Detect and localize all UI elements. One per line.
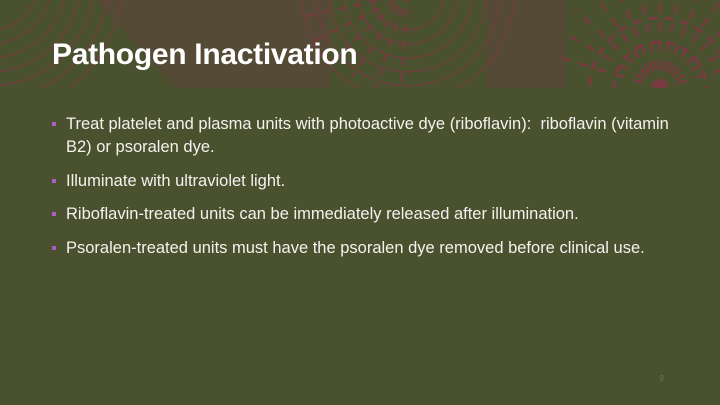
slide: Pathogen Inactivation Treat platelet and… [0,0,720,405]
list-item-text: Riboflavin-treated units can be immediat… [66,203,670,226]
list-item-text: Illuminate with ultraviolet light. [66,170,670,193]
bullet-marker-icon [52,212,56,216]
bullet-marker-icon [52,179,56,183]
list-item-text: Treat platelet and plasma units with pho… [66,113,670,159]
page-title: Pathogen Inactivation [52,38,357,71]
bullet-marker-icon [52,246,56,250]
bullet-marker-icon [52,122,56,126]
list-item-text: Psoralen-treated units must have the pso… [66,237,670,260]
list-item: Psoralen-treated units must have the pso… [50,237,670,260]
decor-sunburst-right [562,0,720,88]
list-item: Illuminate with ultraviolet light. [50,170,670,193]
list-item: Riboflavin-treated units can be immediat… [50,203,670,226]
page-number: 9 [659,374,664,383]
list-item: Treat platelet and plasma units with pho… [50,113,670,159]
bullet-list: Treat platelet and plasma units with pho… [50,113,670,260]
decor-sunburst-inner-ring [590,18,720,88]
